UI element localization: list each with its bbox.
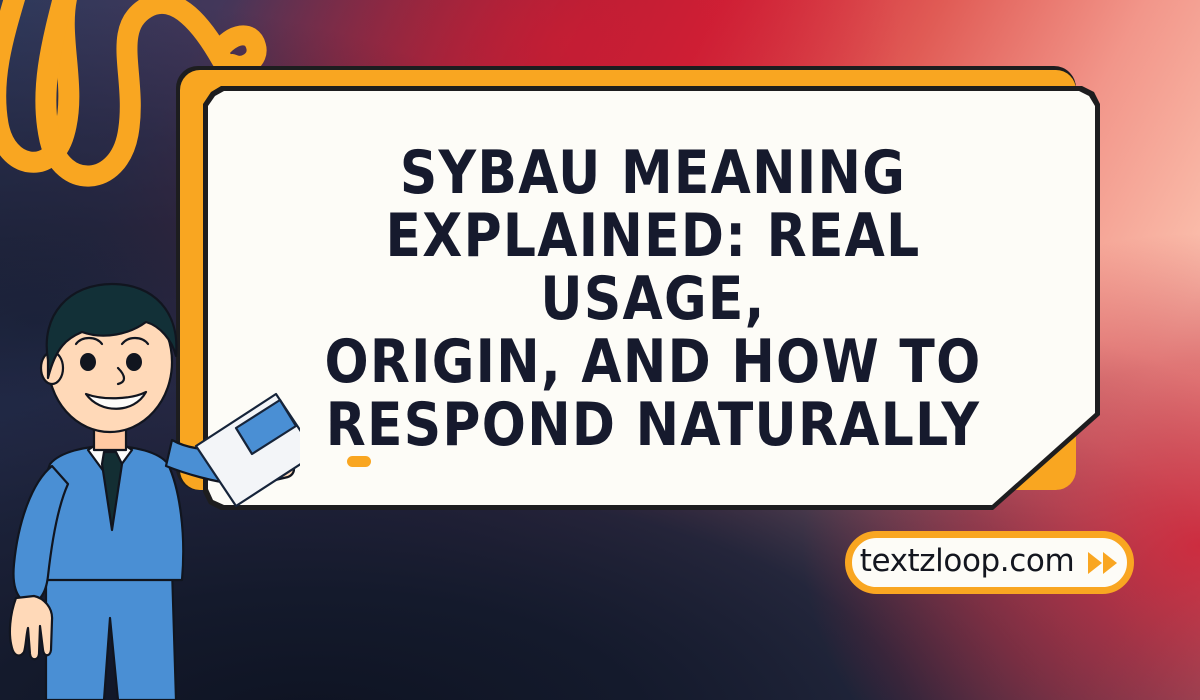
brand-badge[interactable]: textzloop.com: [845, 531, 1134, 594]
page-title: SYBAU MEANING EXPLAINED: REAL USAGE, ORI…: [264, 142, 1043, 457]
thumbnail-canvas: SYBAU MEANING EXPLAINED: REAL USAGE, ORI…: [0, 0, 1200, 700]
fast-forward-icon: [1087, 550, 1119, 576]
brand-badge-label: textzloop.com: [860, 546, 1075, 580]
cartoon-businessman-illustration: [0, 268, 300, 700]
orange-dash-right: [347, 456, 371, 467]
